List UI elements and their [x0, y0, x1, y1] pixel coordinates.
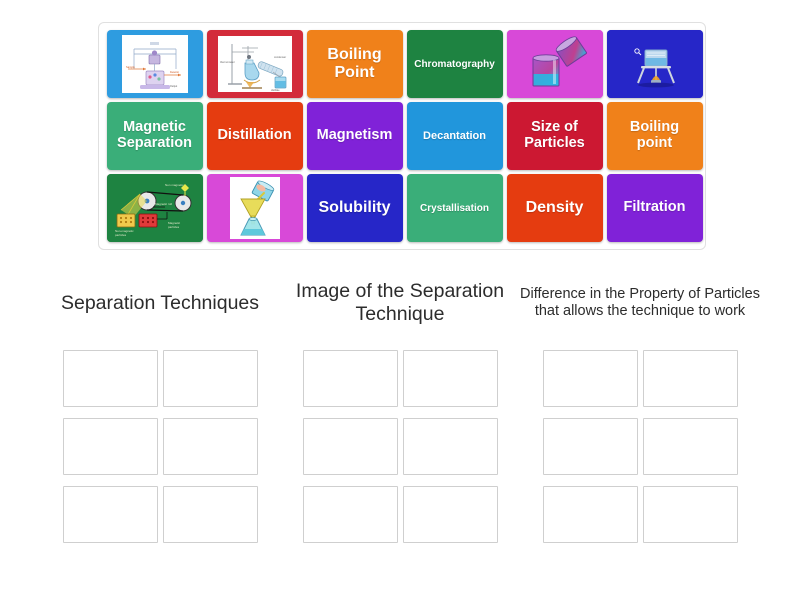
- svg-text:Detector: Detector: [170, 71, 179, 74]
- drop-slot-grid: [543, 350, 738, 543]
- tile-label: Density: [522, 197, 588, 219]
- tile-label: Boiling point: [607, 118, 703, 154]
- tile-distillation-image[interactable]: thermometer condenser distillate: [207, 30, 303, 98]
- svg-text:Sample: Sample: [126, 65, 135, 69]
- svg-text:thermometer: thermometer: [220, 60, 235, 64]
- drop-slot[interactable]: [643, 486, 738, 543]
- decantation-pouring-beakers-icon: [507, 30, 603, 98]
- tile-crystallisation[interactable]: Crystallisation: [407, 174, 503, 242]
- tile-magnetic-separation-image[interactable]: Non magnetic Magnetic roll Magnetic part…: [107, 174, 203, 242]
- tile-magnetism[interactable]: Magnetism: [307, 102, 403, 170]
- drop-slot-grid: [63, 350, 258, 543]
- tile-distillation-text[interactable]: Distillation: [207, 102, 303, 170]
- tile-label: Distillation: [213, 126, 295, 146]
- tile-label: Chromatography: [410, 57, 499, 72]
- column-header: Separation Techniques: [61, 292, 259, 315]
- tile-label: Magnetism: [313, 126, 397, 146]
- draggable-tile-tray: Sample Detector Output: [98, 22, 706, 250]
- drop-slot[interactable]: [403, 350, 498, 407]
- drop-slot[interactable]: [543, 486, 638, 543]
- tile-decantation-image[interactable]: [507, 30, 603, 98]
- svg-text:distillate: distillate: [271, 89, 280, 92]
- tile-decantation-text[interactable]: Decantation: [407, 102, 503, 170]
- tile-solubility[interactable]: Solubility: [307, 174, 403, 242]
- tile-boiling-point-2[interactable]: Boiling point: [607, 102, 703, 170]
- tile-label: Size of Particles: [507, 118, 603, 154]
- tile-magnetic-separation[interactable]: Magnetic Separation: [107, 102, 203, 170]
- column-separation-techniques: Separation Techniques: [40, 262, 280, 543]
- drop-slot[interactable]: [63, 486, 158, 543]
- tile-size-of-particles[interactable]: Size of Particles: [507, 102, 603, 170]
- tile-row: Sample Detector Output: [105, 30, 699, 98]
- tile-label: Decantation: [419, 128, 490, 144]
- distillation-apparatus-diagram-icon: thermometer condenser distillate: [218, 36, 292, 92]
- tile-label: Solubility: [315, 197, 395, 219]
- tile-filtration-image[interactable]: [207, 174, 303, 242]
- chromatography-apparatus-diagram-icon: Sample Detector Output: [122, 35, 188, 93]
- evaporation-tripod-burner-icon: [607, 30, 703, 98]
- column-header: Image of the Separation Technique: [280, 280, 520, 326]
- column-image-of-technique: Image of the Separation Technique: [280, 262, 520, 543]
- drop-slot[interactable]: [163, 350, 258, 407]
- drop-zone-columns: Separation Techniques Image of the Separ…: [40, 262, 760, 543]
- filtration-funnel-flask-icon: [230, 177, 280, 239]
- tile-filtration-text[interactable]: Filtration: [607, 174, 703, 242]
- svg-text:particles: particles: [115, 233, 127, 237]
- drop-slot[interactable]: [403, 486, 498, 543]
- tile-chromatography-image[interactable]: Sample Detector Output: [107, 30, 203, 98]
- svg-text:condenser: condenser: [274, 55, 286, 59]
- drop-slot[interactable]: [303, 418, 398, 475]
- drop-slot[interactable]: [63, 350, 158, 407]
- drop-slot[interactable]: [63, 418, 158, 475]
- drop-slot[interactable]: [643, 418, 738, 475]
- drop-slot[interactable]: [643, 350, 738, 407]
- magnetic-separation-pulley-diagram-icon: Non magnetic Magnetic roll Magnetic part…: [107, 174, 203, 242]
- activity-root: Sample Detector Output: [0, 0, 800, 600]
- svg-text:Output: Output: [170, 85, 178, 88]
- tile-label: Magnetic Separation: [107, 118, 203, 154]
- svg-text:Non magnetic: Non magnetic: [165, 183, 184, 187]
- drop-slot[interactable]: [543, 418, 638, 475]
- drop-slot[interactable]: [303, 350, 398, 407]
- column-header-wrap: Difference in the Property of Particles …: [520, 262, 760, 350]
- drop-slot[interactable]: [403, 418, 498, 475]
- drop-slot[interactable]: [543, 350, 638, 407]
- drop-slot[interactable]: [303, 486, 398, 543]
- tile-row: Non magnetic Magnetic roll Magnetic part…: [105, 174, 699, 242]
- drop-slot[interactable]: [163, 486, 258, 543]
- column-property-difference: Difference in the Property of Particles …: [520, 262, 760, 543]
- svg-text:particles: particles: [168, 225, 180, 229]
- column-header-wrap: Separation Techniques: [40, 262, 280, 350]
- drop-slot-grid: [303, 350, 498, 543]
- tile-evaporation-image[interactable]: [607, 30, 703, 98]
- column-header: Difference in the Property of Particles …: [520, 286, 760, 320]
- tile-boiling-point-1[interactable]: Boiling Point: [307, 30, 403, 98]
- tile-label: Filtration: [619, 198, 689, 218]
- column-header-wrap: Image of the Separation Technique: [280, 262, 520, 350]
- tile-row: Magnetic Separation Distillation Magneti…: [105, 102, 699, 170]
- tile-density[interactable]: Density: [507, 174, 603, 242]
- tile-label: Boiling Point: [307, 44, 403, 83]
- drop-slot[interactable]: [163, 418, 258, 475]
- tile-chromatography-text[interactable]: Chromatography: [407, 30, 503, 98]
- svg-text:Magnetic roll: Magnetic roll: [155, 202, 172, 206]
- tile-label: Crystallisation: [416, 201, 493, 216]
